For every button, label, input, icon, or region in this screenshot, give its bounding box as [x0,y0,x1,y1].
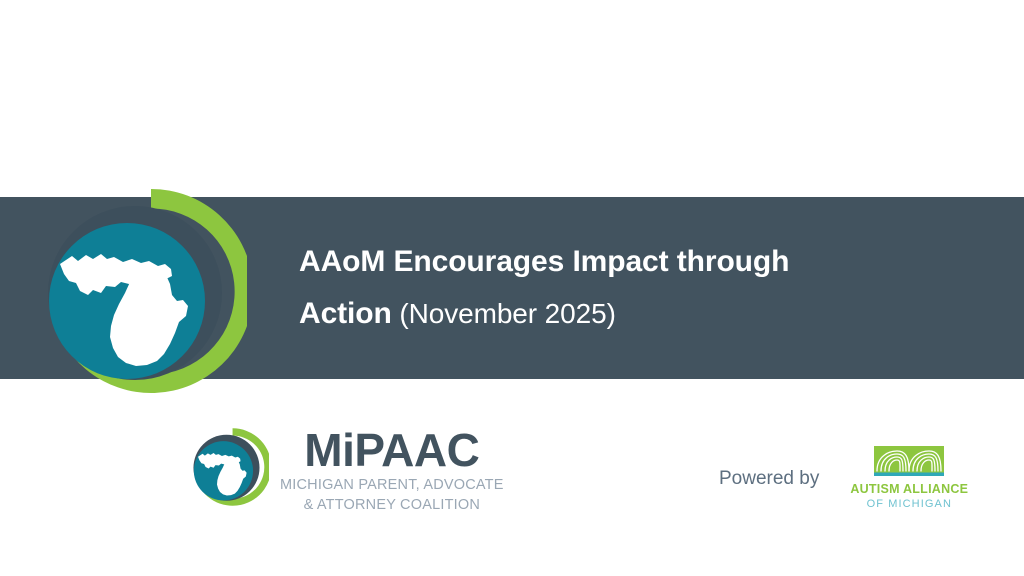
autism-alliance-title: AUTISM ALLIANCE [850,482,968,497]
title-line-2-date: (November 2025) [392,298,616,329]
title-line-1-text: AAoM Encourages Impact through [299,245,789,278]
autism-alliance-mark [874,446,944,479]
mipaac-wordmark: MiPAAC [280,426,504,474]
powered-by-block: Powered by [719,446,968,511]
mipaac-logo-lockup: MiPAAC MICHIGAN PARENT, ADVOCATE & ATTOR… [187,424,504,514]
slide-canvas: AAoM Encourages Impact through Action (N… [0,0,1024,576]
slide-title: AAoM Encourages Impact through Action (N… [299,236,939,340]
title-line-2-strong: Action [299,297,392,330]
autism-alliance-logo-lockup: AUTISM ALLIANCE OF MICHIGAN [850,446,968,511]
title-line-2: Action (November 2025) [299,288,939,340]
mipaac-circle-mark [187,426,269,508]
title-line-1: AAoM Encourages Impact through [299,236,939,288]
mipaac-text-group: MiPAAC MICHIGAN PARENT, ADVOCATE & ATTOR… [280,424,504,514]
aaom-teal-bar [874,473,944,477]
mipaac-tagline-line-1: MICHIGAN PARENT, ADVOCATE [280,477,504,494]
autism-alliance-subtitle: OF MICHIGAN [850,498,968,511]
hero-logo [31,183,247,399]
powered-by-label: Powered by [719,468,819,490]
mipaac-tagline-line-2: & ATTORNEY COALITION [280,497,504,514]
